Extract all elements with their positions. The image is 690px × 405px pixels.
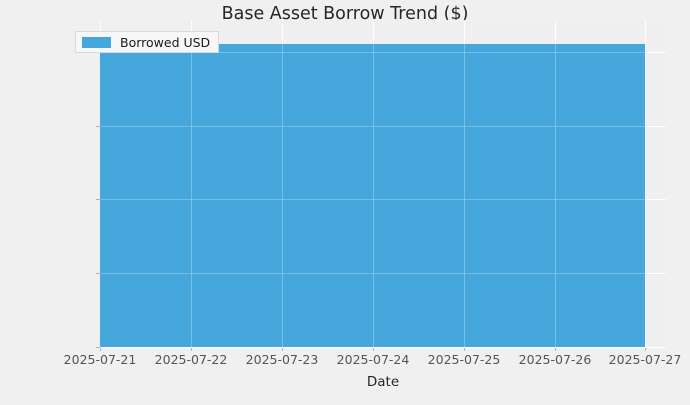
x-tick-label: 2025-07-23 xyxy=(246,352,319,367)
chart-legend[interactable]: Borrowed USD xyxy=(75,31,219,53)
x-tick-label: 2025-07-21 xyxy=(64,352,137,367)
chart-figure: Base Asset Borrow Trend ($) Borrowed Amo… xyxy=(0,0,690,405)
gridline-vertical-overlay xyxy=(282,44,283,347)
gridline-vertical xyxy=(645,20,646,347)
legend-label-borrowed-usd: Borrowed USD xyxy=(120,35,210,50)
gridline-vertical-overlay xyxy=(191,44,192,347)
x-axis-label: Date xyxy=(100,374,666,390)
gridline-vertical-overlay xyxy=(464,44,465,347)
gridline-vertical-overlay xyxy=(555,44,556,347)
gridline-vertical-overlay xyxy=(373,44,374,347)
area-series-borrowed-usd xyxy=(100,44,645,347)
x-tick-label: 2025-07-27 xyxy=(609,352,682,367)
x-tick-label: 2025-07-26 xyxy=(519,352,592,367)
x-tick-label: 2025-07-24 xyxy=(337,352,410,367)
gridline-horizontal xyxy=(100,347,666,348)
x-tick-label: 2025-07-22 xyxy=(155,352,228,367)
plot-area xyxy=(100,20,666,347)
legend-swatch-borrowed-usd xyxy=(82,37,111,48)
x-tick-label: 2025-07-25 xyxy=(428,352,501,367)
